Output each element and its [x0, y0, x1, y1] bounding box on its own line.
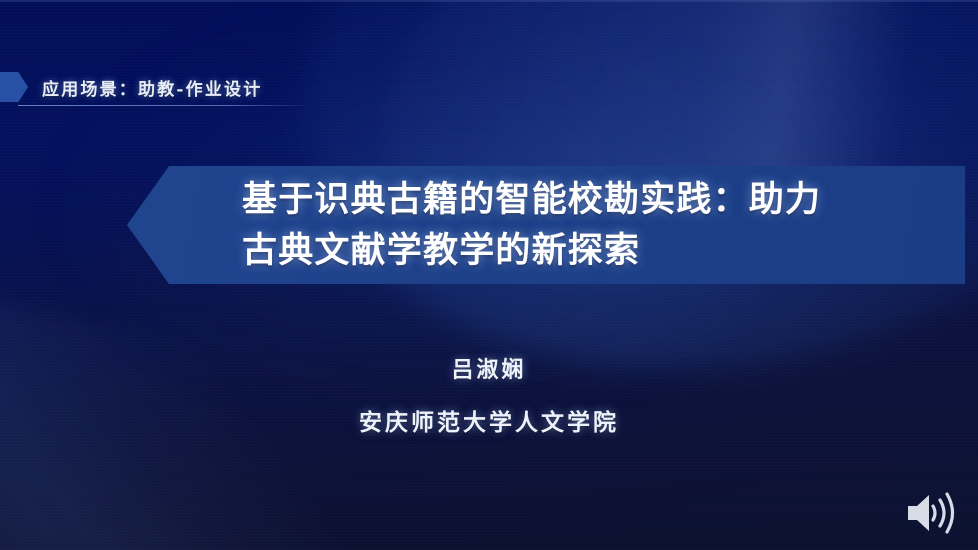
scene-tag-underline	[18, 105, 304, 106]
presentation-slide: 应用场景：助教-作业设计 基于识典古籍的智能校勘实践：助力 古典文献学教学的新探…	[0, 0, 978, 550]
presenter-affiliation: 安庆师范大学人文学院	[0, 403, 978, 437]
scene-tag-label: 应用场景：助教-作业设计	[42, 75, 262, 100]
volume-speaker-icon[interactable]	[902, 488, 958, 538]
presenter-name: 吕淑娴	[0, 352, 978, 384]
page-title: 基于识典古籍的智能校勘实践：助力 古典文献学教学的新探索	[242, 174, 942, 276]
scene-tag: 应用场景：助教-作业设计	[0, 70, 262, 104]
chevron-right-marker-icon	[0, 72, 28, 102]
page-title-line-2: 古典文献学教学的新探索	[242, 225, 942, 276]
page-title-line-1: 基于识典古籍的智能校勘实践：助力	[242, 174, 942, 225]
top-edge-line	[0, 0, 978, 2]
